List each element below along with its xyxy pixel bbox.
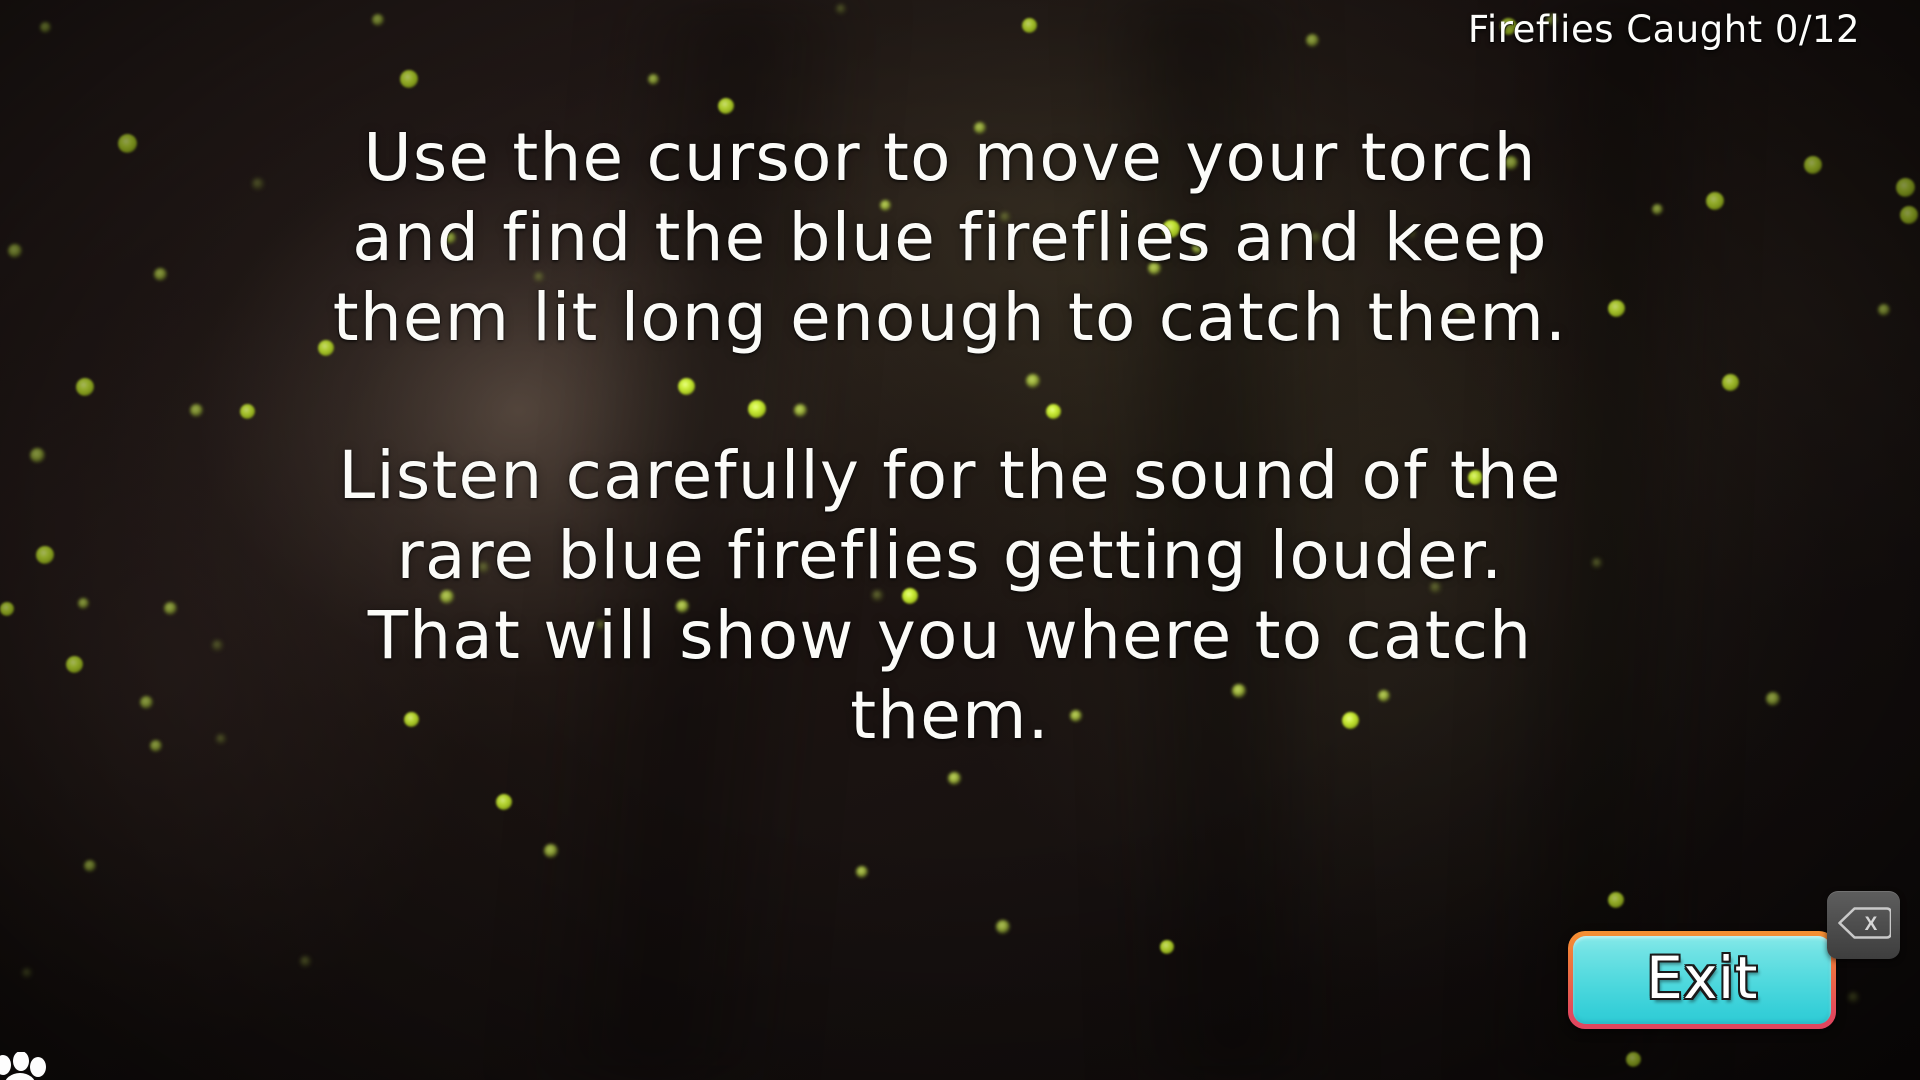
instruction-line: them.: [160, 676, 1740, 756]
instruction-line: them lit long enough to catch them.: [160, 278, 1740, 358]
exit-button-label: Exit: [1646, 944, 1758, 1012]
instruction-line: Listen carefully for the sound of the: [160, 436, 1740, 516]
instruction-line: Use the cursor to move your torch: [160, 118, 1740, 198]
exit-button-face: Exit: [1573, 936, 1831, 1024]
instruction-paragraph-1: Use the cursor to move your torch and fi…: [160, 118, 1740, 358]
instruction-line: That will show you where to catch: [160, 596, 1740, 676]
paw-print-logo: [0, 1052, 48, 1080]
instruction-line: and find the blue fireflies and keep: [160, 198, 1740, 278]
fireflies-caught-counter: Fireflies Caught 0/12: [1468, 8, 1860, 51]
instructions-panel: Use the cursor to move your torch and fi…: [160, 118, 1740, 756]
exit-button[interactable]: Exit: [1568, 931, 1836, 1029]
instruction-paragraph-2: Listen carefully for the sound of the ra…: [160, 436, 1740, 756]
svg-text:X: X: [1864, 914, 1877, 935]
backspace-key-icon: X: [1837, 906, 1891, 944]
game-screen: Fireflies Caught 0/12 Use the cursor to …: [0, 0, 1920, 1080]
instruction-line: rare blue fireflies getting louder.: [160, 516, 1740, 596]
backspace-key-hint-button[interactable]: X: [1827, 891, 1900, 959]
